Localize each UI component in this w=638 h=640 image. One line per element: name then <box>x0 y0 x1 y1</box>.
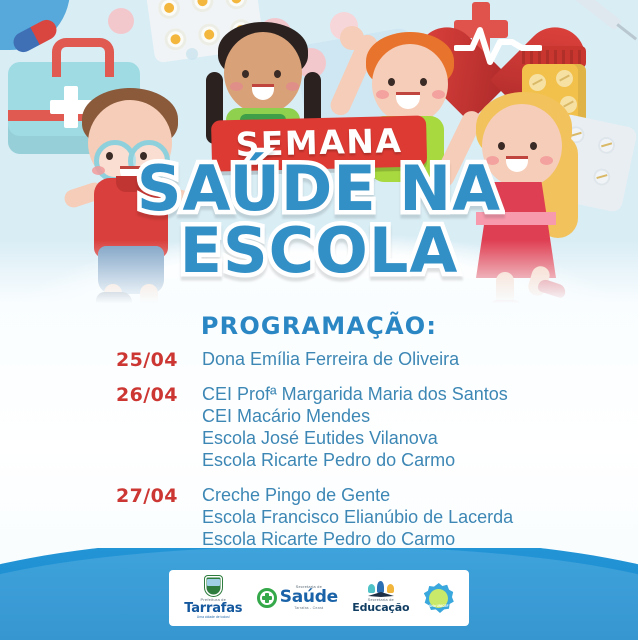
footer-band: Prefeitura de Tarrafas Uma cidade de tod… <box>0 548 638 640</box>
footer-logo-box: Prefeitura de Tarrafas Uma cidade de tod… <box>169 570 469 626</box>
logo-prefeitura-tarrafas: Prefeitura de Tarrafas Uma cidade de tod… <box>184 576 242 619</box>
schedule-date: 26/04 <box>116 383 202 472</box>
schedule-schools: Dona Emília Ferreira de Oliveira <box>202 348 556 371</box>
program-heading: PROGRAMAÇÃO: <box>0 312 638 340</box>
school-name: CEI Macário Mendes <box>202 405 556 427</box>
logo-subtitle: Tarrafas - Ceará <box>294 607 323 611</box>
coat-of-arms-icon <box>205 576 222 596</box>
poster-title-line2-text: ESCOLA <box>180 222 459 279</box>
school-name: Creche Pingo de Gente <box>202 484 556 506</box>
schedule-schools: Creche Pingo de Gente Escola Francisco E… <box>202 484 556 550</box>
logo-secretaria-saude: Secretaria de Saúde Tarrafas - Ceará <box>257 585 338 611</box>
school-name: CEI Profª Margarida Maria dos Santos <box>202 383 556 405</box>
syringe-icon <box>574 0 622 31</box>
school-name: Escola Ricarte Pedro do Carmo <box>202 528 556 550</box>
poster-title-line2: ESCOLA <box>0 222 638 279</box>
pill-icon <box>108 8 134 34</box>
logo-title: Tarrafas <box>184 602 242 615</box>
school-name: Escola Ricarte Pedro do Carmo <box>202 449 556 471</box>
schedule-schools: CEI Profª Margarida Maria dos Santos CEI… <box>202 383 556 472</box>
school-name: Escola Francisco Elianúbio de Lacerda <box>202 506 556 528</box>
schedule-date: 27/04 <box>116 484 202 550</box>
first-aid-kit-handle <box>52 38 114 77</box>
schedule-date: 25/04 <box>116 348 202 371</box>
logo-title: Educação <box>352 602 409 613</box>
decorative-dot <box>186 48 198 60</box>
logo-selo-unicef: Selo UNICEF <box>424 583 454 613</box>
poster-title-line1: SAÚDE NA <box>0 160 638 217</box>
schedule-group: 27/04 Creche Pingo de Gente Escola Franc… <box>116 484 556 550</box>
schedule-group: 26/04 CEI Profª Margarida Maria dos Sant… <box>116 383 556 472</box>
schedule-list: 25/04 Dona Emília Ferreira de Oliveira 2… <box>116 348 556 562</box>
logo-title: Saúde <box>280 589 338 606</box>
selo-unicef-icon: Selo UNICEF <box>424 583 454 613</box>
schedule-group: 25/04 Dona Emília Ferreira de Oliveira <box>116 348 556 371</box>
logo-tagline: Uma cidade de todos! <box>197 616 230 619</box>
logo-secretaria-educacao: Secretaria de Educação <box>352 584 409 613</box>
poster-title-line1-text: SAÚDE NA <box>137 160 501 217</box>
selo-label: Selo UNICEF <box>424 605 454 608</box>
school-name: Escola José Eutides Vilanova <box>202 427 556 449</box>
education-book-icon <box>368 584 394 597</box>
school-name: Dona Emília Ferreira de Oliveira <box>202 348 556 370</box>
health-cross-icon <box>257 588 277 608</box>
poster: SEMANA SAÚDE NA ESCOLA PROGRAMAÇÃO: 25/0… <box>0 0 638 640</box>
